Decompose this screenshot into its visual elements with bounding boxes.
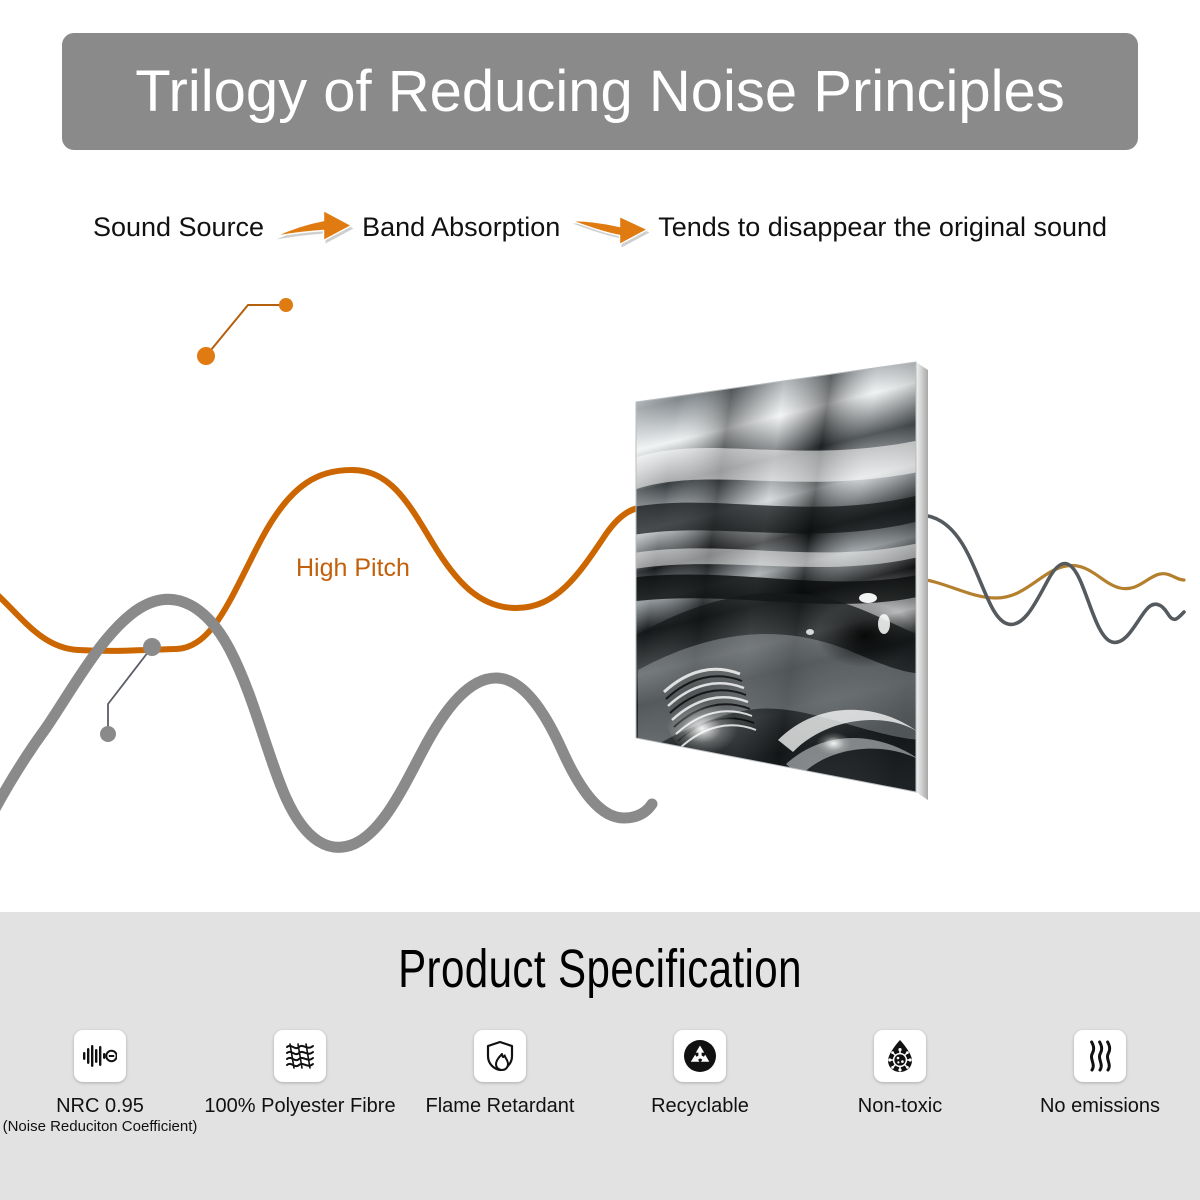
high-pitch-wave-left	[0, 599, 652, 847]
callout-label-high-pitch: High Pitch	[296, 554, 410, 583]
spec-item-polyester-fibre[interactable]: 100% Polyester Fibre	[203, 1030, 398, 1117]
noise-flow-row: Sound Source Band Absorption Tends to di…	[0, 196, 1200, 258]
swoosh-arrow-right-icon	[272, 204, 354, 250]
spec-item-no-emissions[interactable]: No emissions	[1003, 1030, 1198, 1117]
panel-face-texture	[628, 340, 938, 840]
flow-step-label-disappear: Tends to disappear the original sound	[658, 212, 1107, 243]
smoke-waves-icon	[1074, 1030, 1126, 1082]
page-title: Trilogy of Reducing Noise Principles	[135, 63, 1064, 121]
sound-wave-diagram: High Pitch Mid Bass	[0, 258, 1200, 912]
spec-label-polyester-fibre: 100% Polyester Fibre	[204, 1095, 395, 1117]
spec-items-row: NRC 0.95 (Noise Reduciton Coefficient)	[0, 1030, 1200, 1135]
sound-absorption-icon	[74, 1030, 126, 1082]
product-specification-section: Product Specification NRC	[0, 912, 1200, 1200]
swoosh-arrow-right-icon	[568, 204, 650, 250]
acoustic-panel	[628, 340, 938, 840]
high-pitch-wave-right	[912, 515, 1184, 642]
spec-label-no-emissions: No emissions	[1040, 1095, 1160, 1117]
spec-sublabel-nrc: (Noise Reduciton Coefficient)	[3, 1118, 198, 1135]
spec-label-flame-retardant: Flame Retardant	[426, 1095, 575, 1117]
panel-side-edge	[916, 362, 928, 800]
spec-item-flame-retardant[interactable]: Flame Retardant	[403, 1030, 598, 1117]
spec-item-non-toxic[interactable]: Non-toxic	[803, 1030, 998, 1117]
spec-label-non-toxic: Non-toxic	[858, 1095, 942, 1117]
page-title-banner: Trilogy of Reducing Noise Principles	[62, 33, 1138, 150]
spec-label-recyclable: Recyclable	[651, 1095, 749, 1117]
flow-step-label-band-absorption: Band Absorption	[362, 212, 560, 243]
high-pitch-callout-leader	[197, 298, 293, 365]
spec-section-title: Product Specification	[132, 938, 1068, 1000]
recycle-icon	[674, 1030, 726, 1082]
flow-step-label-sound-source: Sound Source	[93, 212, 264, 243]
spec-item-recyclable[interactable]: Recyclable	[603, 1030, 798, 1117]
spec-label-nrc: NRC 0.95	[56, 1095, 144, 1117]
woven-fibre-icon	[274, 1030, 326, 1082]
shield-flame-icon	[474, 1030, 526, 1082]
non-toxic-droplet-icon	[874, 1030, 926, 1082]
spec-item-nrc[interactable]: NRC 0.95 (Noise Reduciton Coefficient)	[3, 1030, 198, 1135]
